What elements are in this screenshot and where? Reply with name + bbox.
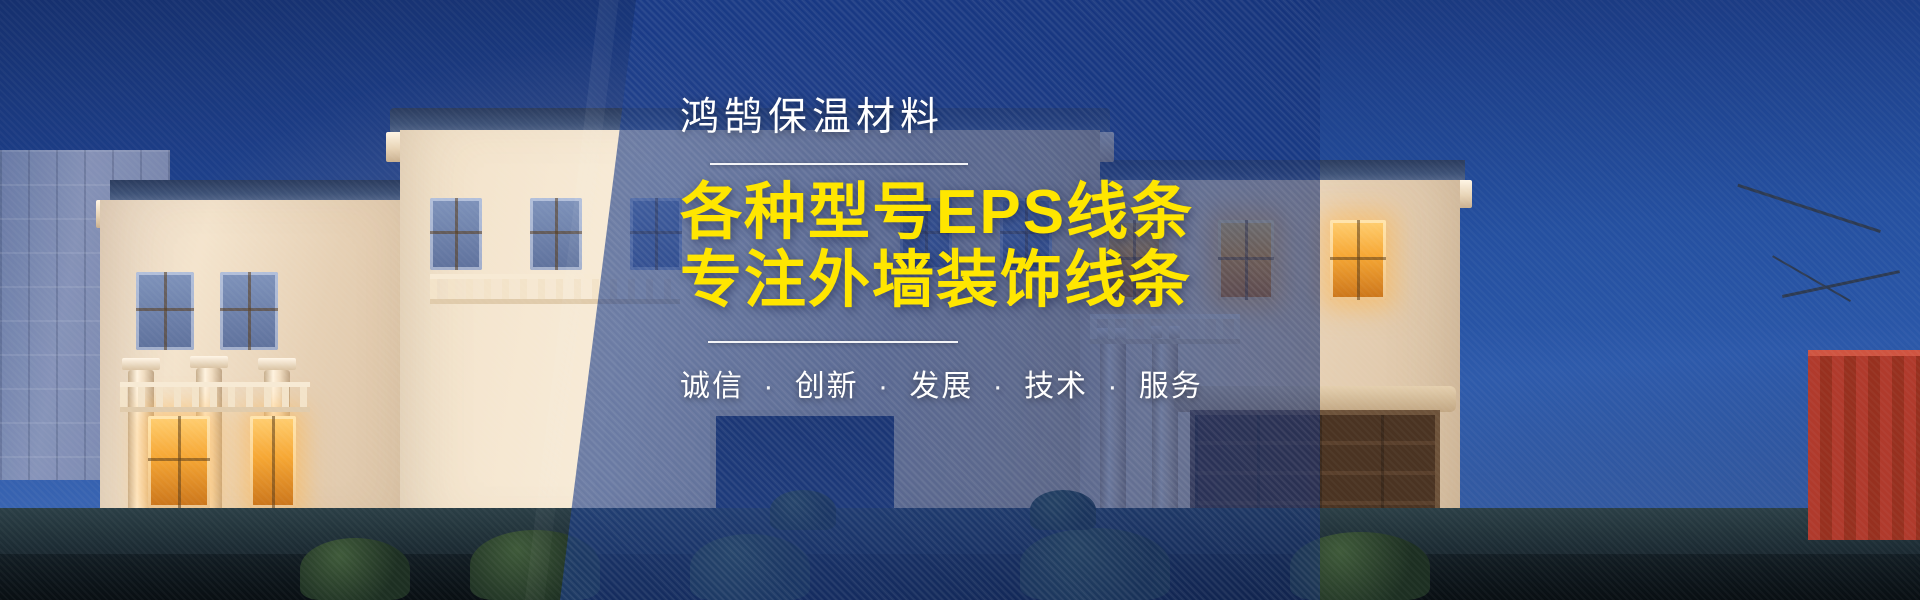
tagline-separator-1: · (754, 370, 784, 403)
tagline-separator-3: · (984, 370, 1014, 403)
window-left-lower-2 (250, 416, 296, 508)
headline-line-1: 各种型号EPS线条 (680, 179, 1380, 247)
roof-left (110, 180, 430, 202)
divider-bottom (708, 341, 958, 343)
tagline: 诚信 · 创新 · 发展 · 技术 · 服务 (680, 361, 1380, 405)
divider-top (710, 163, 968, 165)
window-left-lower-1 (148, 416, 210, 508)
brand-name: 鸿鹄保温材料 (680, 96, 1380, 141)
shipping-container (1808, 350, 1920, 540)
banner-content: 鸿鹄保温材料 各种型号EPS线条 专注外墙装饰线条 诚信 · 创新 · 发展 ·… (680, 96, 1380, 405)
shrub-1 (300, 538, 410, 600)
tagline-item-3: 发展 (909, 370, 973, 403)
tagline-item-1: 诚信 (680, 370, 744, 403)
window-left-upper-2 (220, 272, 278, 350)
window-center-upper-2 (530, 198, 582, 270)
headline-line-2: 专注外墙装饰线条 (680, 247, 1380, 315)
tagline-item-2: 创新 (795, 370, 859, 403)
balustrade-left (120, 382, 310, 412)
tagline-item-4: 技术 (1024, 370, 1088, 403)
window-center-upper-1 (430, 198, 482, 270)
tagline-separator-2: · (869, 370, 899, 403)
window-left-upper-1 (136, 272, 194, 350)
tagline-separator-4: · (1098, 370, 1128, 403)
tagline-item-5: 服务 (1139, 370, 1203, 403)
promo-banner: 鸿鹄保温材料 各种型号EPS线条 专注外墙装饰线条 诚信 · 创新 · 发展 ·… (0, 0, 1920, 600)
